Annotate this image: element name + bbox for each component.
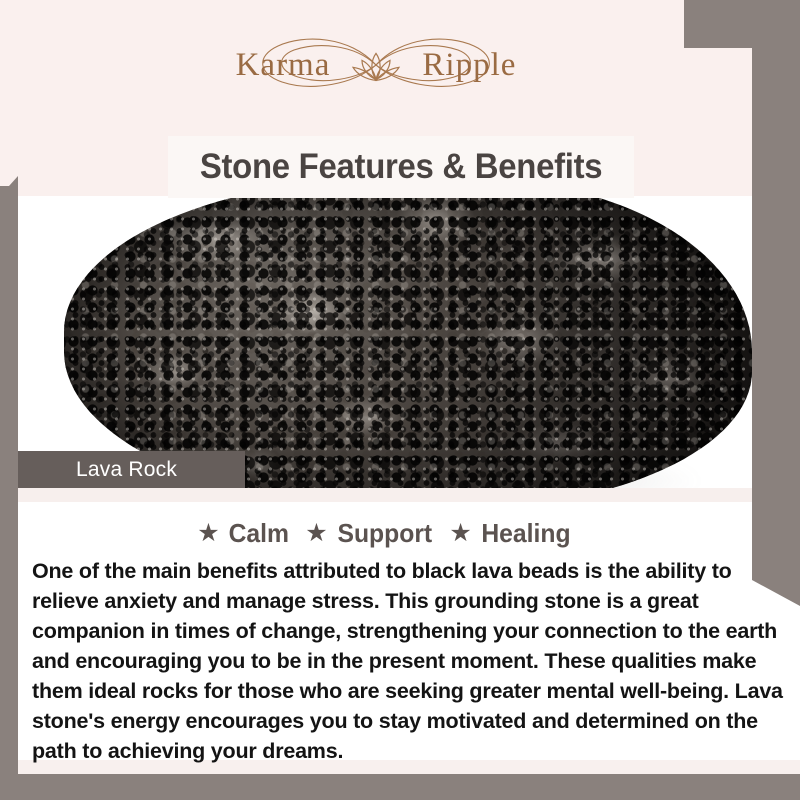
brand-logo-mark: Karma Ripple — [226, 30, 526, 100]
frame-right-bar — [752, 0, 800, 580]
frame-bottom-bar — [0, 774, 800, 800]
brand-logo: Karma Ripple — [0, 0, 752, 130]
stone-name-label: Lava Rock — [76, 458, 177, 482]
benefit-label: Support — [337, 518, 432, 549]
brand-name-right: Ripple — [422, 47, 516, 84]
benefit-label: Calm — [228, 518, 288, 549]
star-icon: ★ — [197, 521, 219, 546]
product-photo — [18, 196, 752, 488]
lotus-flower-icon — [350, 49, 402, 83]
brand-name-left: Karma — [236, 47, 331, 84]
infographic-page: Karma Ripple Stone Features & Benefits L… — [0, 0, 800, 800]
benefit-keyword-support: ★ Support — [305, 518, 434, 549]
lava-rock-image — [64, 196, 752, 488]
benefit-label: Healing — [481, 518, 570, 549]
benefit-keyword-healing: ★ Healing — [449, 518, 572, 549]
star-icon: ★ — [305, 521, 327, 546]
frame-left-bar — [0, 186, 18, 800]
photo-separator-strip — [18, 488, 752, 502]
page-title: Stone Features & Benefits — [200, 147, 602, 187]
benefit-keywords: ★ Calm ★ Support ★ Healing — [18, 518, 752, 549]
description-text: One of the main benefits attributed to b… — [32, 556, 792, 766]
stone-name-banner: Lava Rock — [18, 451, 245, 488]
benefit-keyword-calm: ★ Calm — [197, 518, 290, 549]
star-icon: ★ — [449, 521, 471, 546]
title-band: Stone Features & Benefits — [168, 136, 634, 198]
